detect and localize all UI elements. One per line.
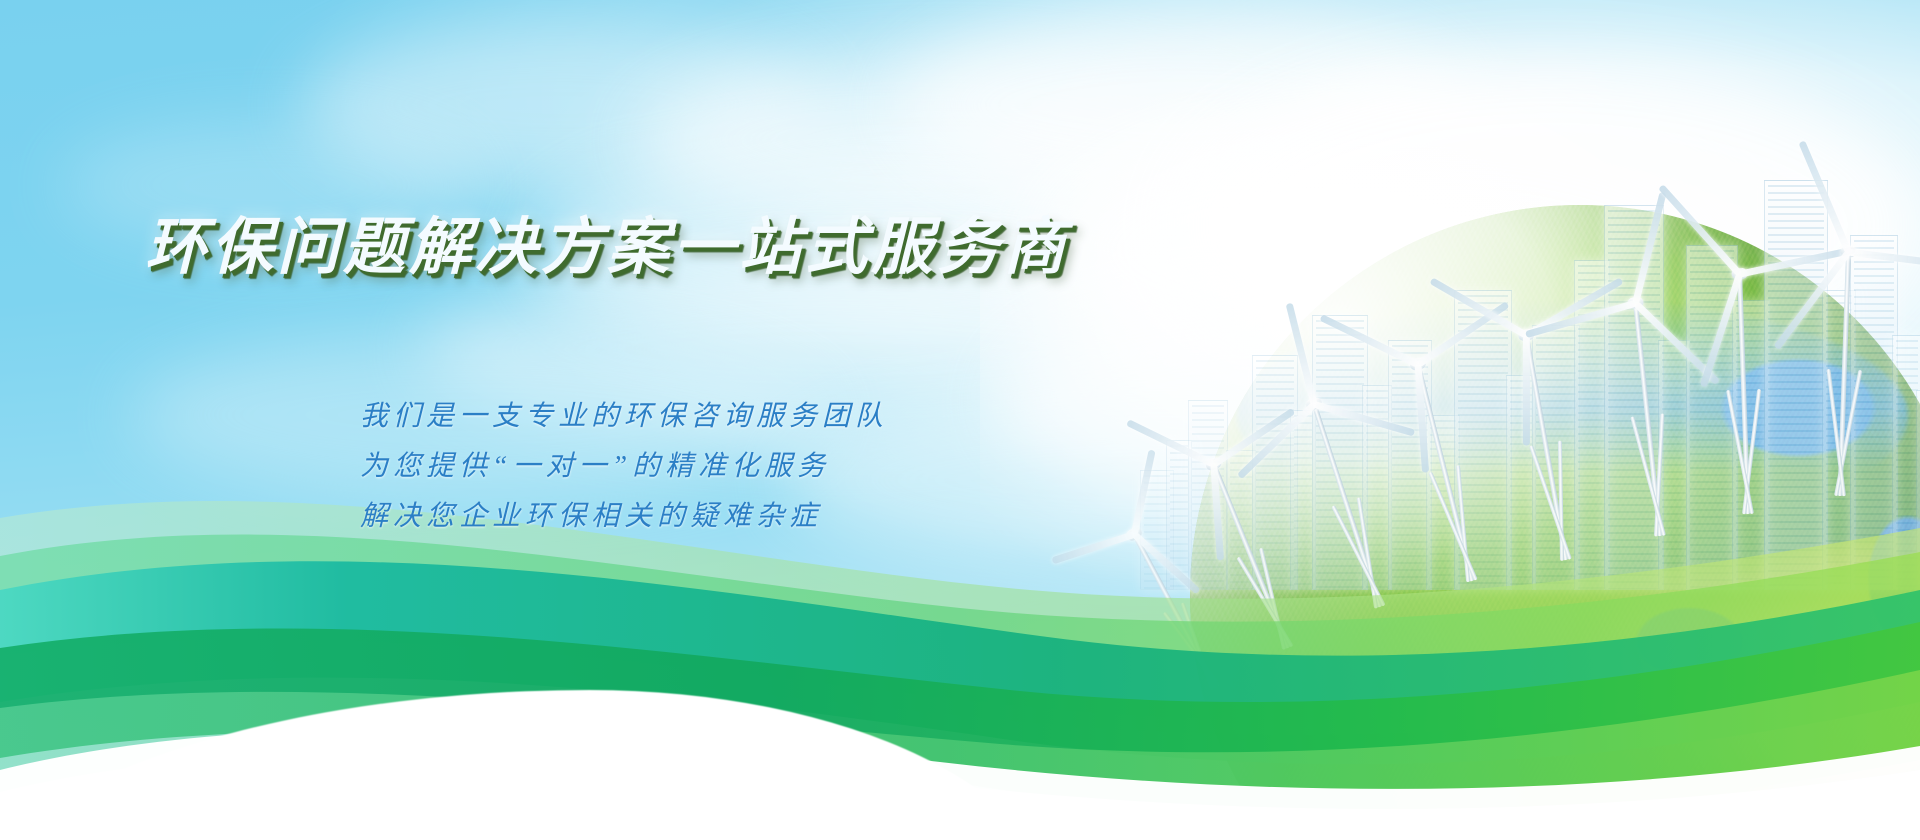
turbine-blade — [1523, 335, 1530, 445]
subtitle-line-3: 解决您企业环保相关的疑难杂症 — [360, 492, 888, 542]
eco-hero-banner: 环保问题解决方案一站式服务商 我们是一支专业的环保咨询服务团队 为您提供“一对一… — [0, 0, 1920, 840]
subtitle-block: 我们是一支专业的环保咨询服务团队 为您提供“一对一”的精准化服务 解决您企业环保… — [360, 392, 888, 542]
subtitle-line-1: 我们是一支专业的环保咨询服务团队 — [360, 392, 888, 442]
page-title: 环保问题解决方案一站式服务商 — [145, 196, 1069, 286]
subtitle-line-2: 为您提供“一对一”的精准化服务 — [360, 442, 888, 492]
